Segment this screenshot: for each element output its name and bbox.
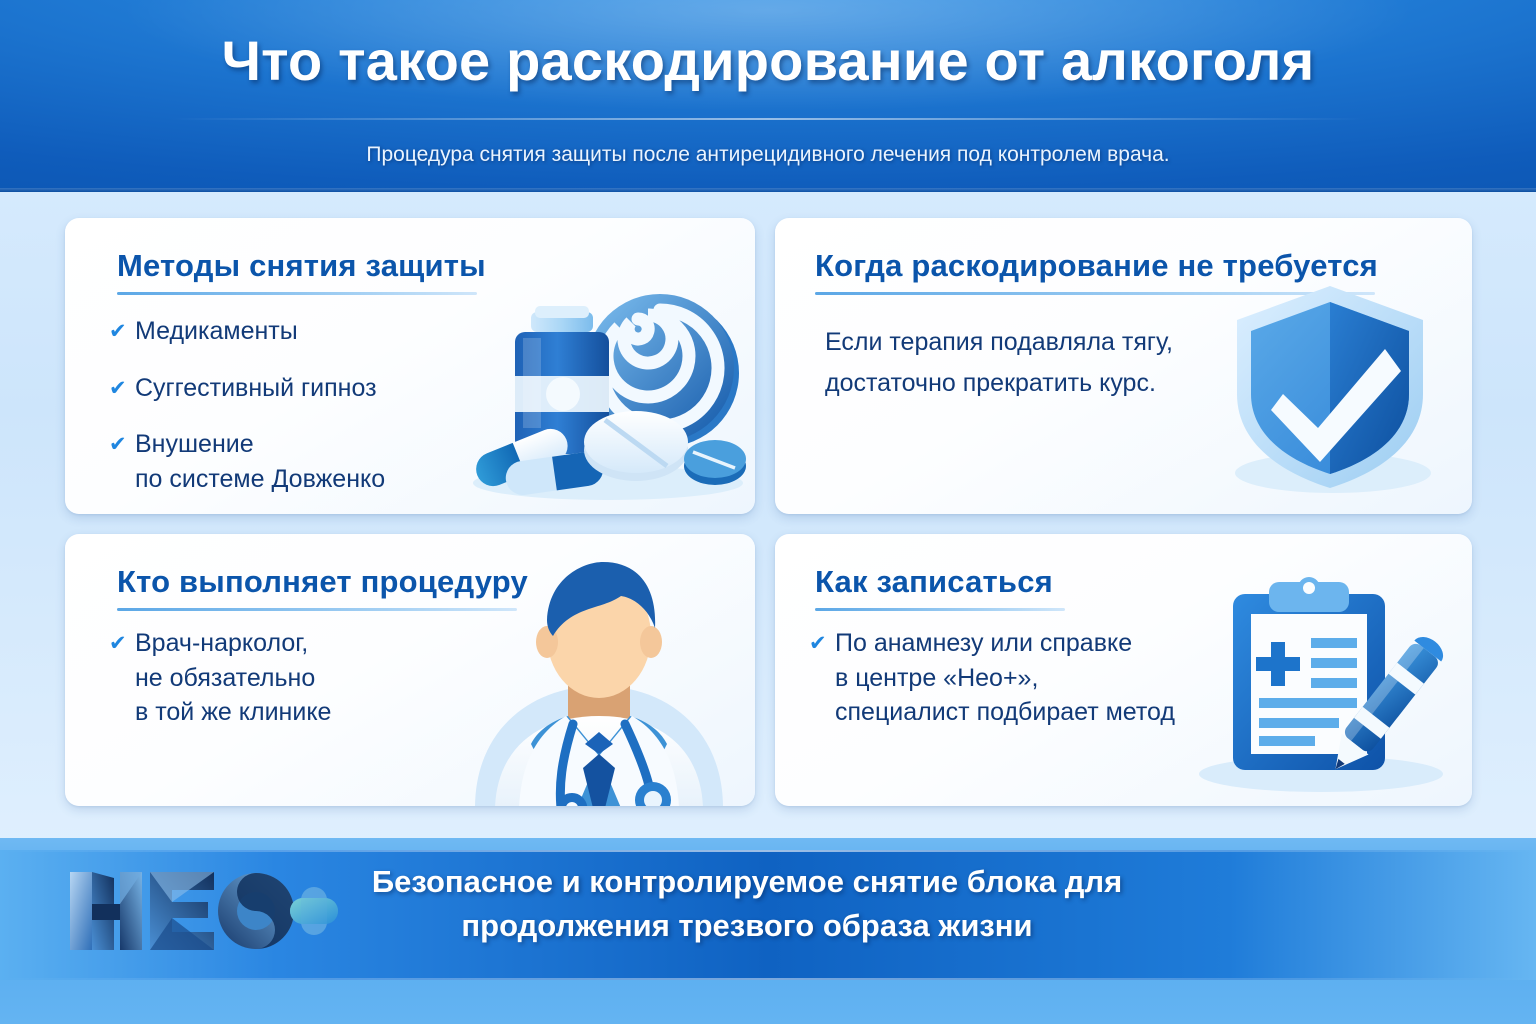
check-icon: ✔ — [109, 434, 135, 455]
card-body-text: Если терапия подавляла тягу, достаточно … — [825, 322, 1173, 403]
doctor-icon — [435, 558, 755, 806]
list-item: ✔ Медикаменты — [109, 314, 385, 349]
list-item-label: Суггестивный гипноз — [135, 371, 377, 406]
card-methods: Методы снятия защиты ✔ Медикаменты ✔ Суг… — [65, 218, 755, 514]
list-item: ✔ Суггестивный гипноз — [109, 371, 385, 406]
list-item-label: Внушение по системе Довженко — [135, 427, 385, 496]
infographic-poster: Что такое раскодирование от алкоголя Про… — [0, 0, 1536, 1024]
list-item-label: Врач-нарколог, не обязательно в той же к… — [135, 626, 331, 730]
page-title: Что такое раскодирование от алкоголя — [0, 28, 1536, 93]
card-title-underline — [117, 292, 477, 295]
footer-banner: Безопасное и контролируемое снятие блока… — [0, 838, 1536, 1024]
clipboard-pen-icon — [1193, 570, 1458, 795]
neo-plus-logo — [62, 856, 342, 966]
footer-tagline: Безопасное и контролируемое снятие блока… — [352, 860, 1142, 948]
list-item: ✔ Внушение по системе Довженко — [109, 427, 385, 496]
bullet-list: ✔ По анамнезу или справке в центре «Нео+… — [809, 626, 1175, 736]
card-who-performs: Кто выполняет процедуру ✔ Врач-нарколог,… — [65, 534, 755, 806]
list-item: ✔ По анамнезу или справке в центре «Нео+… — [809, 626, 1175, 730]
list-item: ✔ Врач-нарколог, не обязательно в той же… — [109, 626, 331, 730]
check-icon: ✔ — [109, 321, 135, 342]
card-how-to-book: Как записаться ✔ По анамнезу или справке… — [775, 534, 1472, 806]
pills-bottle-spiral-icon — [453, 278, 753, 508]
bullet-list: ✔ Врач-нарколог, не обязательно в той же… — [109, 626, 331, 736]
page-subtitle: Процедура снятия защиты после антирециди… — [0, 143, 1536, 167]
check-icon: ✔ — [109, 378, 135, 399]
header-banner: Что такое раскодирование от алкоголя Про… — [0, 0, 1536, 192]
shield-check-icon — [1215, 276, 1445, 501]
header-divider — [170, 118, 1366, 120]
card-not-required: Когда раскодирование не требуется Если т… — [775, 218, 1472, 514]
card-title-underline — [815, 608, 1065, 611]
check-icon: ✔ — [109, 633, 135, 654]
list-item-label: Медикаменты — [135, 314, 298, 349]
card-title: Как записаться — [815, 564, 1053, 600]
bullet-list: ✔ Медикаменты ✔ Суггестивный гипноз ✔ Вн… — [109, 314, 385, 514]
check-icon: ✔ — [809, 633, 835, 654]
card-title: Методы снятия защиты — [117, 248, 486, 284]
list-item-label: По анамнезу или справке в центре «Нео+»,… — [835, 626, 1175, 730]
